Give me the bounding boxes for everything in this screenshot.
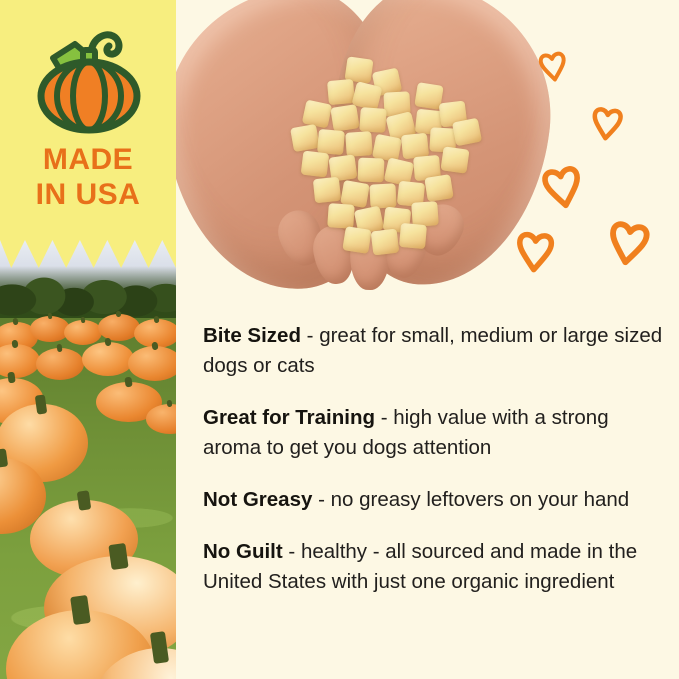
heart-icon-3 (536, 159, 588, 213)
feature-list: Bite Sized - great for small, medium or … (203, 300, 665, 597)
feature-title: Not Greasy (203, 488, 312, 511)
badge-line-1: MADE (0, 142, 176, 177)
feature-title: No Guilt (203, 540, 283, 563)
product-feature-graphic: MADE IN USA (0, 0, 679, 679)
pumpkin-icon (31, 22, 147, 138)
feature-item: Bite Sized - great for small, medium or … (203, 321, 665, 381)
pumpkin-patch-photo (0, 240, 176, 679)
feature-separator: - (283, 540, 301, 563)
feature-body: no greasy leftovers on your hand (331, 488, 630, 511)
feature-separator: - (312, 488, 330, 511)
feature-item: Great for Training - high value with a s… (203, 403, 665, 463)
feature-title: Bite Sized (203, 324, 301, 347)
made-in-usa-badge: MADE IN USA (0, 0, 176, 268)
feature-item: No Guilt - healthy - all sourced and mad… (203, 537, 665, 597)
feature-title: Great for Training (203, 406, 375, 429)
heart-icon-1 (535, 48, 571, 84)
heart-icon-5 (601, 215, 655, 271)
badge-line-2: IN USA (0, 177, 176, 212)
feature-item: Not Greasy - no greasy leftovers on your… (203, 485, 665, 515)
grass-field (0, 318, 176, 679)
made-in-usa-text: MADE IN USA (0, 142, 176, 212)
feature-separator: - (301, 324, 319, 347)
freeze-dried-treat-cubes (288, 58, 478, 258)
feature-separator: - (375, 406, 393, 429)
left-column: MADE IN USA (0, 0, 176, 679)
heart-icon-4 (511, 227, 558, 276)
heart-icon-2 (587, 102, 627, 144)
